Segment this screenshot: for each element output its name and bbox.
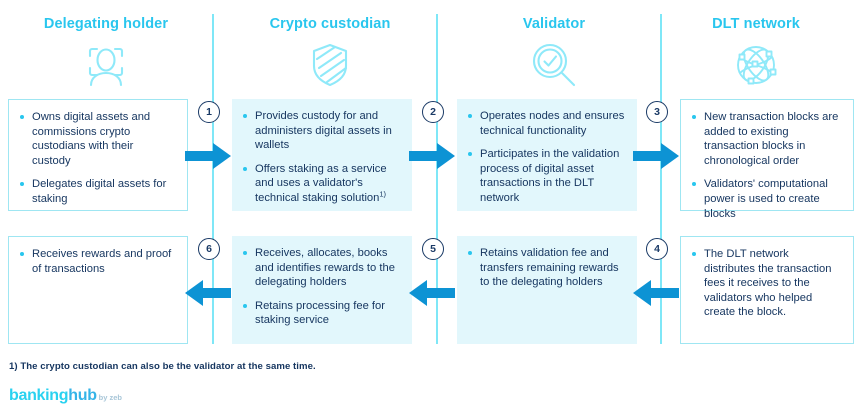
arrow-right-1 (185, 141, 231, 171)
arrow-right-2 (409, 141, 455, 171)
bullet-dot (243, 114, 247, 118)
bullet-list: Provides custody for and administers dig… (242, 109, 400, 206)
bullet-dot (692, 252, 696, 256)
bullet-dot (243, 304, 247, 308)
bullet-dot (468, 114, 472, 118)
bullet-dot (243, 251, 247, 255)
bullet-list: Operates nodes and ensures technical fun… (467, 109, 625, 206)
list-item: Operates nodes and ensures technical fun… (467, 109, 625, 138)
step-number: 1 (206, 107, 212, 118)
bullet-list: Receives rewards and proof of transactio… (19, 247, 175, 276)
staking-process-diagram: { "colors": { "accent_cyan": "#29c6ee", … (0, 0, 862, 415)
bullet-dot (692, 115, 696, 119)
step-number: 4 (654, 244, 660, 255)
process-box-top-4: New transaction blocks are added to exis… (680, 99, 854, 211)
process-box-top-1: Owns digital assets and commissions cryp… (8, 99, 188, 211)
bullet-list: Retains validation fee and transfers rem… (467, 246, 625, 290)
bullet-list: Receives, allocates, books and identifie… (242, 246, 400, 328)
step-number: 3 (654, 107, 660, 118)
list-item: Retains processing fee for staking servi… (242, 299, 400, 328)
column-title: DLT network (650, 16, 862, 32)
arrow-left-6 (185, 278, 231, 308)
list-item: Owns digital assets and commissions cryp… (19, 110, 175, 168)
list-item: New transaction blocks are added to exis… (691, 110, 841, 168)
footnote-text: 1) The crypto custodian can also be the … (9, 361, 316, 372)
list-item: Participates in the validation process o… (467, 147, 625, 205)
bullet-dot (692, 182, 696, 186)
list-item: Offers staking as a service and uses a v… (242, 162, 400, 206)
column-header-delegating-holder: Delegating holder (0, 16, 212, 89)
arrow-left-5 (409, 278, 455, 308)
process-box-bottom-2: Receives, allocates, books and identifie… (232, 236, 412, 344)
list-item: Delegates digital assets for staking (19, 177, 175, 206)
process-box-bottom-3: Retains validation fee and transfers rem… (457, 236, 637, 344)
bankinghub-logo: bankinghub by zeb (9, 388, 122, 404)
logo-part-hub: hub (68, 388, 96, 404)
person-scan-icon (0, 41, 212, 89)
column-header-validator: Validator (448, 16, 660, 89)
column-title: Delegating holder (0, 16, 212, 32)
process-box-top-3: Operates nodes and ensures technical fun… (457, 99, 637, 211)
bullet-dot (20, 252, 24, 256)
bullet-dot (468, 251, 472, 255)
arrow-left-4 (633, 278, 679, 308)
bullet-list: New transaction blocks are added to exis… (691, 110, 841, 221)
step-number: 5 (430, 244, 436, 255)
step-circle-3: 3 (646, 101, 668, 123)
bullet-dot (468, 152, 472, 156)
list-item: Receives, allocates, books and identifie… (242, 246, 400, 290)
process-box-bottom-1: Receives rewards and proof of transactio… (8, 236, 188, 344)
bullet-dot (243, 167, 247, 171)
step-circle-6: 6 (198, 238, 220, 260)
step-circle-4: 4 (646, 238, 668, 260)
list-item: Provides custody for and administers dig… (242, 109, 400, 153)
list-item: Retains validation fee and transfers rem… (467, 246, 625, 290)
list-item: Receives rewards and proof of transactio… (19, 247, 175, 276)
logo-part-banking: banking (9, 388, 68, 404)
bullet-list: Owns digital assets and commissions cryp… (19, 110, 175, 207)
arrow-right-3 (633, 141, 679, 171)
shield-icon (224, 41, 436, 89)
magnifier-check-icon (448, 41, 660, 89)
column-header-crypto-custodian: Crypto custodian (224, 16, 436, 89)
step-circle-2: 2 (422, 101, 444, 123)
globe-network-icon (650, 41, 862, 89)
bullet-dot (20, 182, 24, 186)
step-number: 2 (430, 107, 436, 118)
bullet-list: The DLT network distributes the transact… (691, 247, 841, 320)
column-title: Crypto custodian (224, 16, 436, 32)
logo-suffix-by-zeb: by zeb (99, 394, 122, 402)
list-item: The DLT network distributes the transact… (691, 247, 841, 320)
column-header-dlt-network: DLT network (650, 16, 862, 89)
bullet-dot (20, 115, 24, 119)
list-item: Validators' computational power is used … (691, 177, 841, 221)
step-circle-5: 5 (422, 238, 444, 260)
step-circle-1: 1 (198, 101, 220, 123)
process-box-top-2: Provides custody for and administers dig… (232, 99, 412, 211)
footnote-marker: 1) (379, 189, 386, 198)
process-box-bottom-4: The DLT network distributes the transact… (680, 236, 854, 344)
column-title: Validator (448, 16, 660, 32)
step-number: 6 (206, 244, 212, 255)
